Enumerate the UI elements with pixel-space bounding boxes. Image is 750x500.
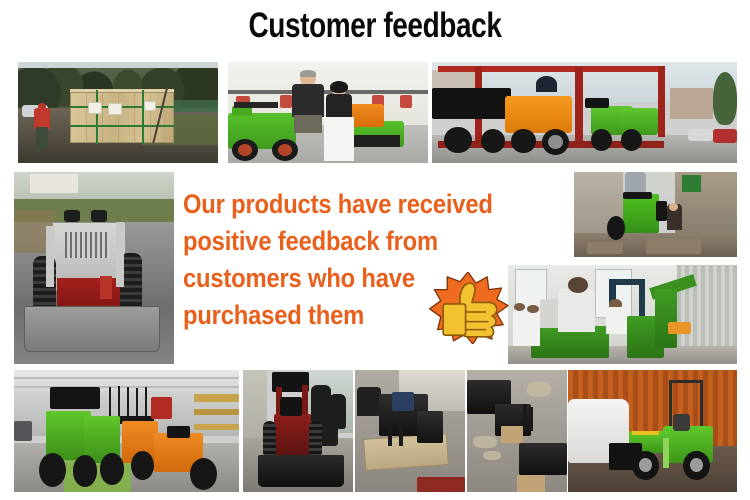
feedback-message: Our products have received positive feed…	[183, 186, 465, 334]
photo-green-loader-van	[568, 370, 737, 492]
photo-attachments-pallet	[355, 370, 465, 492]
photo-customers-with-loaders	[228, 62, 428, 163]
feedback-line-4: purchased them	[183, 297, 465, 334]
photo-loaders-on-truck	[432, 62, 737, 163]
thumbs-up-icon	[427, 272, 509, 344]
customer-feedback-banner: Customer feedback	[0, 0, 750, 500]
feedback-line-2: positive feedback from	[183, 223, 465, 260]
photo-warehouse-fleet	[14, 370, 239, 492]
photo-green-loader-jobsite	[574, 172, 737, 257]
photo-red-track-loader	[14, 172, 174, 364]
photo-crate-shipping	[18, 62, 218, 163]
photo-customer-test-drive	[508, 265, 737, 364]
feedback-line-3: customers who have	[183, 260, 465, 297]
page-title: Customer feedback	[75, 8, 675, 45]
photo-dark-red-loader	[243, 370, 353, 492]
feedback-line-1: Our products have received	[183, 186, 465, 223]
photo-bucket-grapple-floor	[467, 370, 567, 492]
